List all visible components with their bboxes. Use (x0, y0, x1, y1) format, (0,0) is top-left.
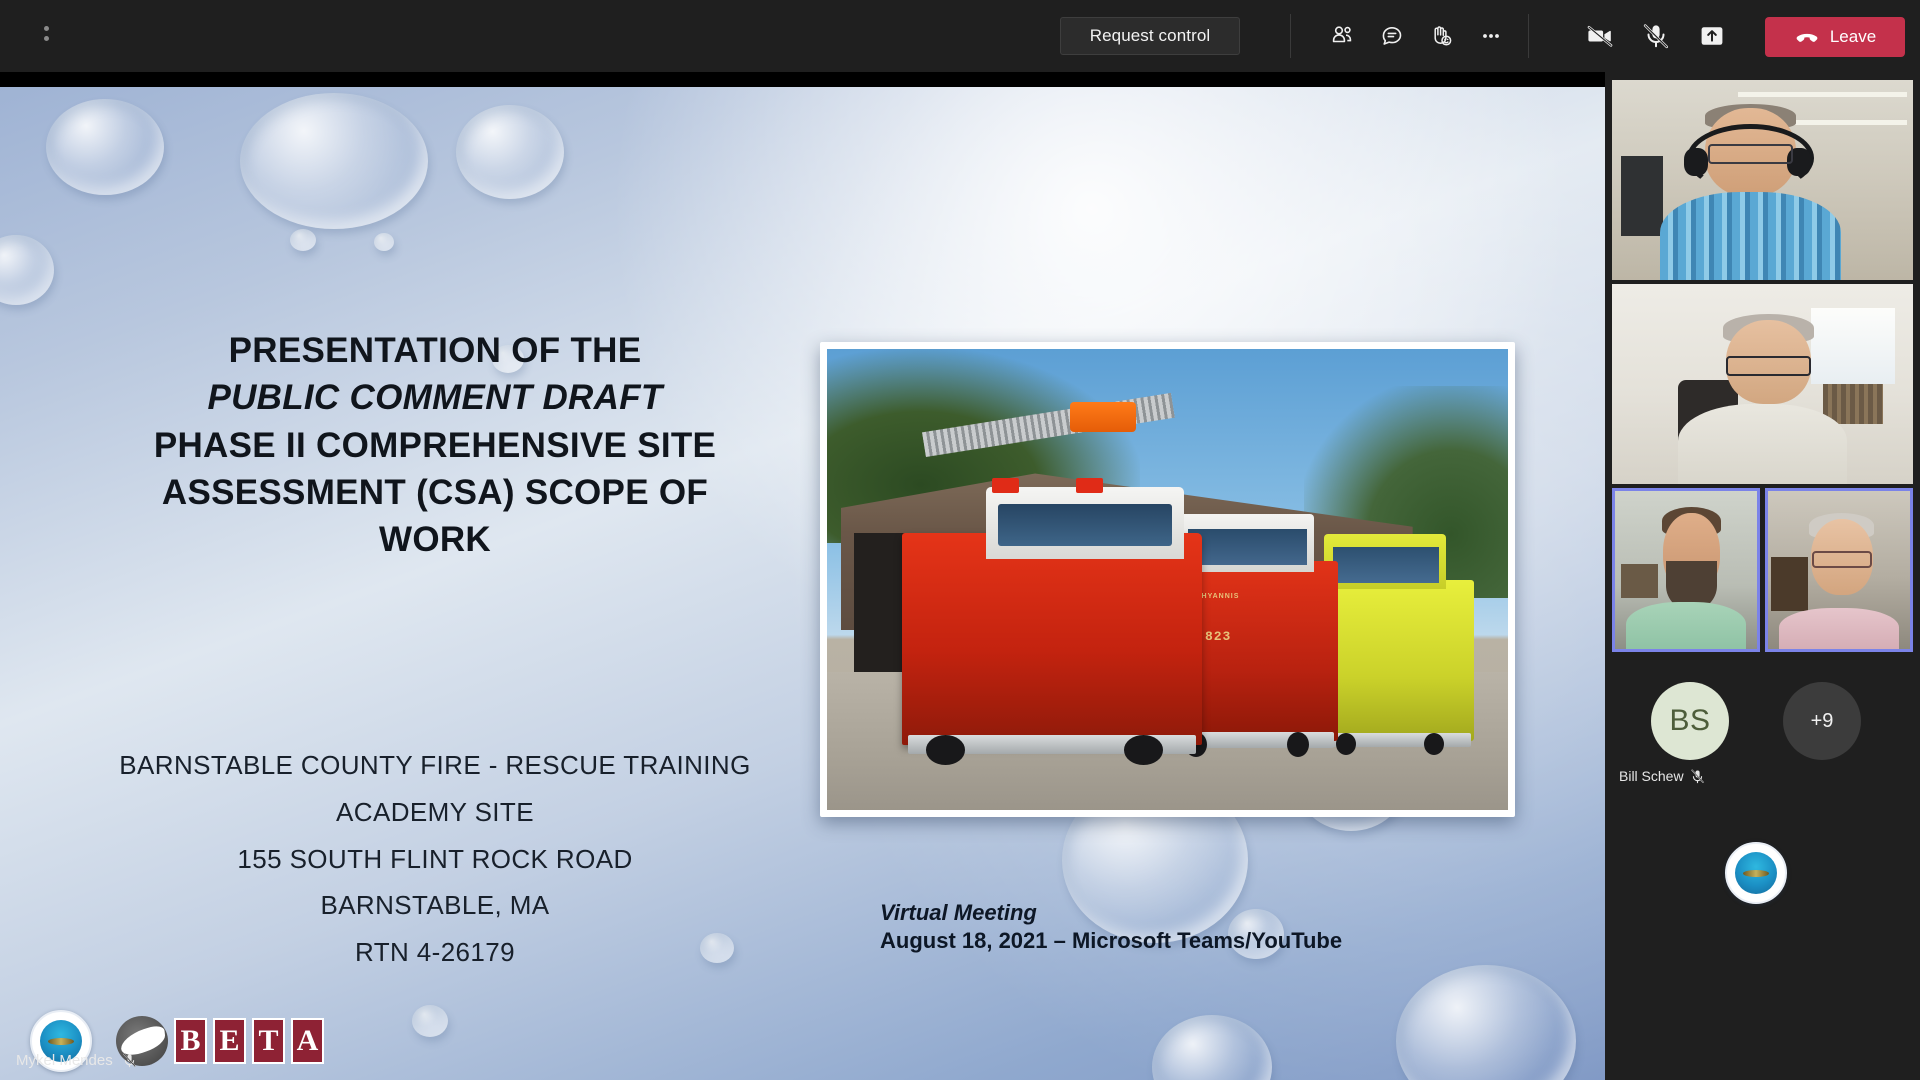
water-droplet-icon (456, 105, 564, 199)
mic-off-icon (1691, 769, 1704, 784)
water-droplet-icon (290, 229, 316, 251)
share-screen-icon[interactable] (1692, 16, 1732, 56)
beta-letter: E (213, 1018, 246, 1064)
water-droplet-icon (1396, 965, 1576, 1080)
chat-icon[interactable] (1372, 16, 1412, 56)
request-control-button[interactable]: Request control (1060, 17, 1240, 55)
slide-title-line-4: ASSESSMENT (CSA) SCOPE OF (70, 469, 800, 516)
beta-letter: T (252, 1018, 285, 1064)
mic-off-icon[interactable] (1636, 16, 1676, 56)
overflow-count: +9 (1811, 710, 1834, 733)
slide-subtitle: BARNSTABLE COUNTY FIRE - RESCUE TRAINING… (60, 742, 810, 976)
hangup-icon (1794, 24, 1820, 50)
presenter-name: Mykel Mendes (16, 1052, 113, 1069)
water-droplet-icon (0, 235, 54, 305)
water-droplet-icon (412, 1005, 448, 1037)
avatar-initials: BS (1669, 704, 1710, 738)
meeting-info-block: Virtual Meeting August 18, 2021 – Micros… (880, 899, 1440, 955)
mic-off-icon (123, 1053, 136, 1068)
slide-subtitle-line-1: BARNSTABLE COUNTY FIRE - RESCUE TRAINING (60, 742, 810, 789)
dot (44, 36, 49, 41)
avatar[interactable]: BS (1651, 682, 1729, 760)
water-droplet-icon (1152, 1015, 1272, 1080)
reactions-icon[interactable] (1421, 16, 1461, 56)
participants-sidebar: BS Bill Schew +9 (1605, 72, 1920, 1080)
toolbar-divider (1528, 14, 1529, 58)
water-droplet-icon (240, 93, 428, 229)
avatar-name-label: Bill Schew (1619, 768, 1769, 784)
slide-title-line-5: WORK (70, 516, 800, 563)
more-icon[interactable] (1471, 16, 1511, 56)
slide-subtitle-line-4: BARNSTABLE, MA (60, 882, 810, 929)
presentation-slide: PRESENTATION OF THE PUBLIC COMMENT DRAFT… (0, 87, 1605, 1080)
fire-trucks-photo: HYANNIS 823 (820, 342, 1515, 817)
county-seal-watermark (1725, 842, 1787, 904)
meeting-toolbar: Request control (0, 0, 1920, 72)
request-control-label: Request control (1090, 26, 1211, 46)
toolbar-divider (1290, 14, 1291, 58)
beta-letter: A (291, 1018, 324, 1064)
dot (44, 26, 49, 31)
slide-subtitle-line-3: 155 SOUTH FLINT ROCK ROAD (60, 836, 810, 883)
presenter-name-label: Mykel Mendes (16, 1052, 136, 1069)
water-droplet-icon (374, 233, 394, 251)
people-icon[interactable] (1322, 16, 1362, 56)
beta-logo: B E T A (116, 1016, 324, 1066)
truck-number-label: 823 (1205, 629, 1231, 644)
participant-avatars-row: BS Bill Schew +9 (1605, 672, 1920, 802)
camera-off-icon[interactable] (1580, 16, 1620, 56)
slide-title-line-2: PUBLIC COMMENT DRAFT (70, 374, 800, 421)
video-tile-3[interactable] (1612, 488, 1760, 652)
leave-label: Leave (1830, 27, 1876, 47)
shared-content-stage[interactable]: PRESENTATION OF THE PUBLIC COMMENT DRAFT… (0, 72, 1605, 1080)
overflow-participants-button[interactable]: +9 (1783, 682, 1861, 760)
truck-town-label: HYANNIS (1202, 593, 1240, 600)
slide-subtitle-line-2: ACADEMY SITE (60, 789, 810, 836)
meeting-date-label: August 18, 2021 – Microsoft Teams/YouTub… (880, 927, 1440, 955)
video-tile-4[interactable] (1765, 488, 1913, 652)
video-tile-2[interactable] (1612, 284, 1913, 484)
meeting-kind-label: Virtual Meeting (880, 899, 1440, 927)
yellow-truck (1317, 580, 1474, 741)
water-droplet-icon (46, 99, 164, 195)
leave-button[interactable]: Leave (1765, 17, 1905, 57)
video-tile-1[interactable] (1612, 80, 1913, 280)
slide-title-line-1: PRESENTATION OF THE (70, 327, 800, 374)
ladder-truck (902, 533, 1202, 745)
slide-subtitle-line-5: RTN 4-26179 (60, 929, 810, 976)
participant-name: Bill Schew (1619, 768, 1684, 784)
slide-title-line-3: PHASE II COMPREHENSIVE SITE (70, 422, 800, 469)
slide-title: PRESENTATION OF THE PUBLIC COMMENT DRAFT… (70, 327, 800, 563)
beta-letter: B (174, 1018, 207, 1064)
more-vertical-icon[interactable] (44, 26, 49, 41)
